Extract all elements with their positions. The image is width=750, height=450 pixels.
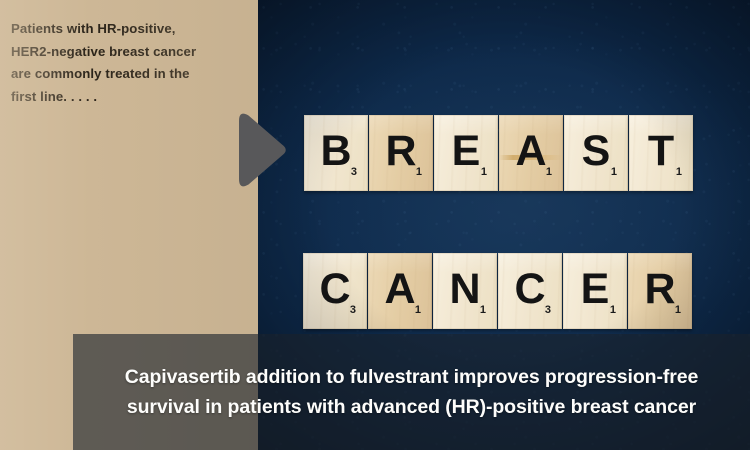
- scrabble-row-breast: B 3 R 1 E 1 A 1 S 1 T 1: [304, 115, 693, 191]
- scrabble-tile: N 1: [433, 253, 497, 329]
- tile-letter: T: [648, 130, 674, 173]
- scrabble-tile: S 1: [564, 115, 628, 191]
- caption-overlay: Capivasertib addition to fulvestrant imp…: [73, 334, 750, 450]
- tile-points: 1: [415, 305, 421, 316]
- scrabble-tile: E 1: [434, 115, 498, 191]
- tile-letter: N: [449, 268, 480, 311]
- tile-letter: C: [514, 268, 545, 311]
- scrabble-tile: A 1: [499, 115, 563, 191]
- tile-points: 3: [351, 167, 357, 178]
- tile-letter: R: [385, 130, 416, 173]
- tile-letter: E: [452, 130, 481, 173]
- tile-letter: S: [582, 130, 611, 173]
- scrabble-tile: T 1: [629, 115, 693, 191]
- play-triangle-icon[interactable]: [231, 108, 289, 192]
- scrabble-tile: R 1: [369, 115, 433, 191]
- tile-letter: C: [319, 268, 350, 311]
- tile-points: 1: [480, 305, 486, 316]
- tile-points: 1: [416, 167, 422, 178]
- tile-letter: E: [581, 268, 610, 311]
- tile-letter: R: [644, 268, 675, 311]
- scrabble-tile: B 3: [304, 115, 368, 191]
- tile-letter: B: [320, 130, 351, 173]
- tile-points: 1: [481, 167, 487, 178]
- headline: Capivasertib addition to fulvestrant imp…: [110, 362, 714, 422]
- scrabble-tile: C 3: [498, 253, 562, 329]
- tile-points: 1: [610, 305, 616, 316]
- tile-points: 1: [611, 167, 617, 178]
- tile-letter: A: [384, 268, 415, 311]
- scrabble-row-cancer: C 3 A 1 N 1 C 3 E 1 R 1: [303, 253, 692, 329]
- scrabble-tile: C 3: [303, 253, 367, 329]
- tile-points: 1: [546, 167, 552, 178]
- scrabble-tile: A 1: [368, 253, 432, 329]
- teaser-text: Patients with HR-positive, HER2-negative…: [11, 18, 249, 108]
- scrabble-tile: E 1: [563, 253, 627, 329]
- tile-letter: A: [515, 130, 546, 173]
- tile-points: 1: [676, 167, 682, 178]
- tile-points: 3: [545, 305, 551, 316]
- scrabble-tile: R 1: [628, 253, 692, 329]
- tile-points: 1: [675, 305, 681, 316]
- news-card: Patients with HR-positive, HER2-negative…: [0, 0, 750, 450]
- tile-points: 3: [350, 305, 356, 316]
